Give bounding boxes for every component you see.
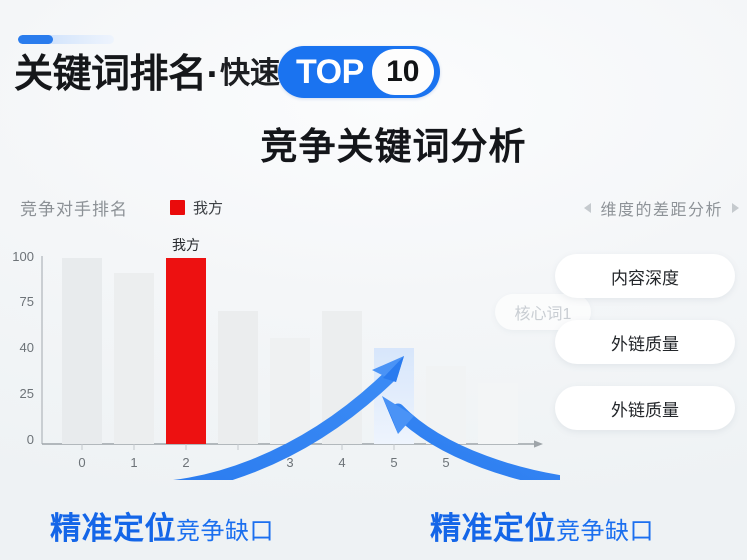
highlight-bar-label: 我方	[164, 235, 208, 255]
triangle-left-icon	[584, 203, 591, 213]
dimension-card[interactable]: 外链质量	[555, 320, 735, 364]
caption-right: 精准定位 竞争缺口	[430, 503, 654, 548]
caption-left: 精准定位 竞争缺口	[50, 503, 274, 548]
competitor-bar-chart: 100 75 40 25 0	[0, 248, 560, 478]
dimension-card[interactable]: 内容深度	[555, 254, 735, 298]
x-tick-label: 0	[78, 455, 85, 470]
headline-main-text: 关键词排名	[14, 55, 207, 94]
y-tick-label: 25	[20, 386, 34, 401]
y-tick-label: 0	[27, 432, 34, 447]
bar	[114, 273, 154, 444]
bar	[218, 311, 258, 444]
x-tick-marks	[82, 444, 446, 450]
x-tick-label: 5	[442, 455, 449, 470]
bar	[62, 258, 102, 444]
bar	[478, 383, 518, 444]
chart-header: 竞争对手排名 我方	[20, 195, 223, 220]
x-axis-arrowhead	[534, 440, 543, 447]
x-tick-label: 5	[390, 455, 397, 470]
top-rank-badge-label: TOP	[296, 55, 364, 89]
caption-right-weak: 竞争缺口	[556, 511, 654, 546]
bar-highlight	[166, 258, 206, 444]
x-tick-label: 2	[182, 455, 189, 470]
poster-canvas: TOP 10 关键词排名 · 快速 竞争关键词分析 竞争对手排名 我方 维度的差…	[0, 0, 747, 560]
caption-left-strong: 精准定位	[50, 503, 176, 548]
headline-separator: ·	[207, 55, 220, 94]
x-tick-label: 1	[130, 455, 137, 470]
chart-header-title: 竞争对手排名	[20, 195, 128, 220]
dimension-card-list: 内容深度 外链质量 外链质量	[555, 254, 735, 430]
bar-group	[62, 258, 518, 444]
chart-legend: 我方	[170, 197, 223, 218]
headline: 关键词排名 · 快速	[14, 47, 280, 101]
top-rank-badge: TOP 10	[278, 46, 440, 98]
chart-svg: 100 75 40 25 0	[0, 248, 560, 480]
triangle-right-icon	[732, 203, 739, 213]
y-tick-label: 100	[12, 249, 34, 264]
x-tick-label: 4	[338, 455, 345, 470]
y-tick-label: 40	[20, 340, 34, 355]
dimension-card[interactable]: 外链质量	[555, 386, 735, 430]
headline-sub-text: 快速	[220, 59, 280, 89]
panel-header-title: 维度的差距分析	[600, 196, 723, 220]
legend-label: 我方	[193, 197, 223, 218]
caption-left-weak: 竞争缺口	[176, 511, 274, 546]
top-rank-badge-value: 10	[372, 49, 434, 95]
y-tick-label: 75	[20, 294, 34, 309]
y-tick-labels: 100 75 40 25 0	[12, 249, 34, 447]
legend-swatch-icon	[170, 200, 185, 215]
progress-bar-fill	[18, 35, 53, 44]
panel-header: 维度的差距分析	[584, 196, 739, 220]
bar	[270, 338, 310, 444]
progress-bar	[18, 35, 114, 44]
caption-right-strong: 精准定位	[430, 503, 556, 548]
page-title: 竞争关键词分析	[0, 116, 747, 170]
